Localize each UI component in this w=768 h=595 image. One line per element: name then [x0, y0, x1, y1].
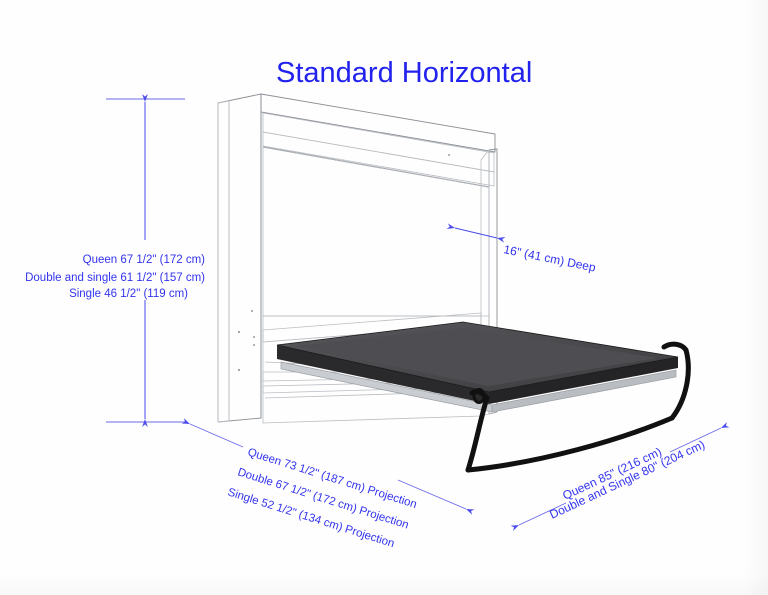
cabinet-depth-dimension: 16" (41 cm) Deep — [455, 228, 597, 275]
height-label-double-single: Double and single 61 1/2" (157 cm) — [25, 272, 205, 284]
bed-length-dimension: Queen 85" (216 cm) Double and Single 80"… — [519, 428, 721, 525]
height-label-queen: Queen 67 1/2" (172 cm) — [83, 254, 206, 266]
depth-label: 16" (41 cm) Deep — [502, 242, 597, 274]
diagram-canvas: Standard Horizontal — [0, 0, 768, 595]
page-title: Standard Horizontal — [276, 57, 532, 89]
bed-projection-dimension: Queen 73 1/2" (187 cm) Projection Double… — [190, 424, 466, 550]
wall-bed-illustration: Standard Horizontal — [0, 0, 768, 595]
mattress-platform — [277, 322, 678, 412]
height-label-single: Single 46 1/2" (119 cm) — [69, 288, 188, 300]
cabinet-height-dimension: Queen 67 1/2" (172 cm) Double and single… — [25, 99, 205, 422]
